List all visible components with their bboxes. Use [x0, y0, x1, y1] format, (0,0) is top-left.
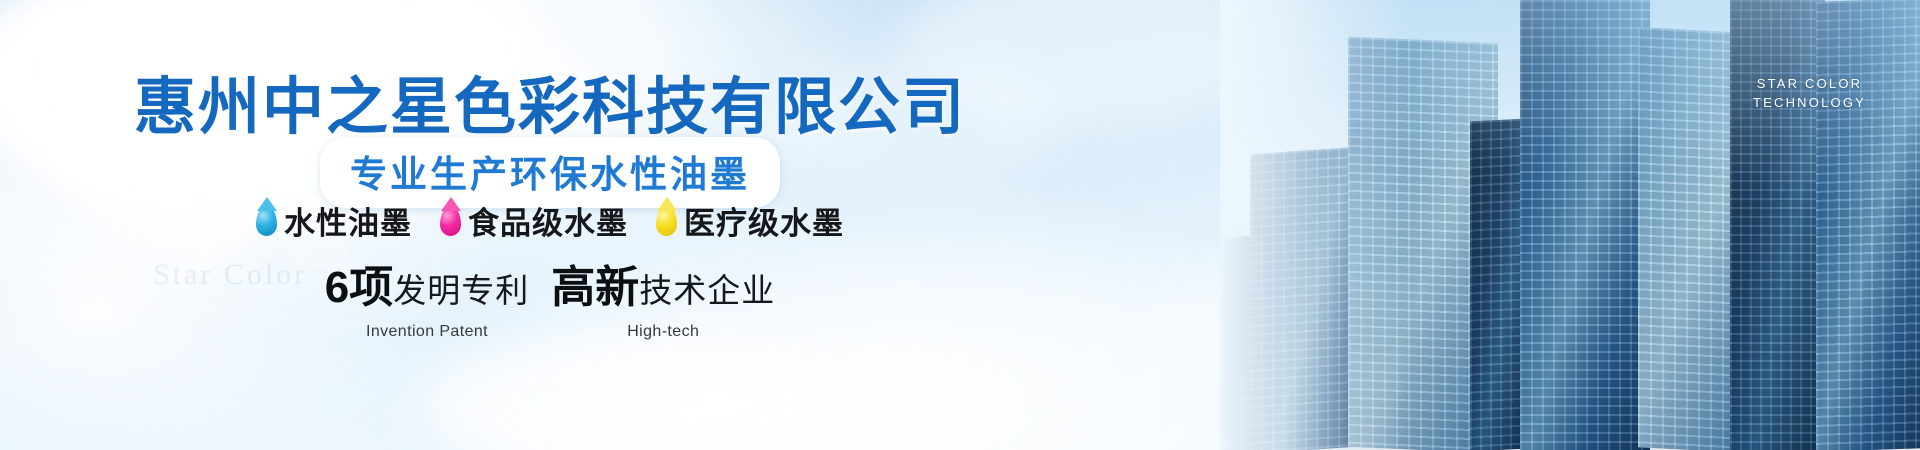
status-badge: 6项发明专利 Invention Patent — [325, 265, 529, 341]
skyscraper-photo: STAR COLOR TECHNOLOGY — [1220, 0, 1920, 450]
credential-badges: 6项发明专利 Invention Patent 高新技术企业 High-tech — [0, 265, 1100, 341]
list-item: 医疗级水墨 — [656, 198, 844, 243]
banner-content: 惠州中之星色彩科技有限公司 专业生产环保水性油墨 水性油墨 食品级水墨 医疗级水… — [0, 0, 1100, 450]
brand-mark-city: STAR COLOR TECHNOLOGY — [1753, 74, 1866, 112]
list-item: 食品级水墨 — [440, 198, 628, 243]
water-drop-yellow-icon — [656, 206, 677, 236]
water-drop-magenta-icon — [440, 206, 461, 236]
company-title: 惠州中之星色彩科技有限公司 — [0, 56, 1100, 146]
badge-english: High-tech — [551, 323, 775, 341]
tagline-text: 专业生产环保水性油墨 — [350, 154, 750, 195]
badge-main: 高新技术企业 — [551, 265, 775, 321]
badge-english: Invention Patent — [325, 323, 529, 341]
building — [1220, 231, 1290, 450]
status-badge: 高新技术企业 High-tech — [551, 265, 775, 341]
list-item: 水性油墨 — [256, 198, 412, 243]
badge-number: 6项 — [325, 263, 393, 312]
list-item-label: 医疗级水墨 — [684, 198, 844, 243]
list-item-label: 水性油墨 — [284, 198, 412, 243]
brand-mark-line2: TECHNOLOGY — [1753, 93, 1866, 112]
badge-main: 6项发明专利 — [325, 265, 529, 321]
list-item-label: 食品级水墨 — [468, 198, 628, 243]
photo-tone-overlay — [1220, 0, 1920, 450]
brand-mark-line1: STAR COLOR — [1753, 74, 1866, 93]
badge-text: 发明专利 — [393, 272, 529, 309]
water-drop-cyan-icon — [256, 206, 277, 236]
badge-text: 技术企业 — [639, 272, 775, 309]
ink-type-list: 水性油墨 食品级水墨 医疗级水墨 — [0, 198, 1100, 243]
badge-number: 高新 — [551, 263, 639, 312]
building — [1250, 146, 1370, 450]
company-hero-banner: Star Color STAR COLOR TECHNOLOGY 惠州中之星色彩… — [0, 0, 1920, 450]
